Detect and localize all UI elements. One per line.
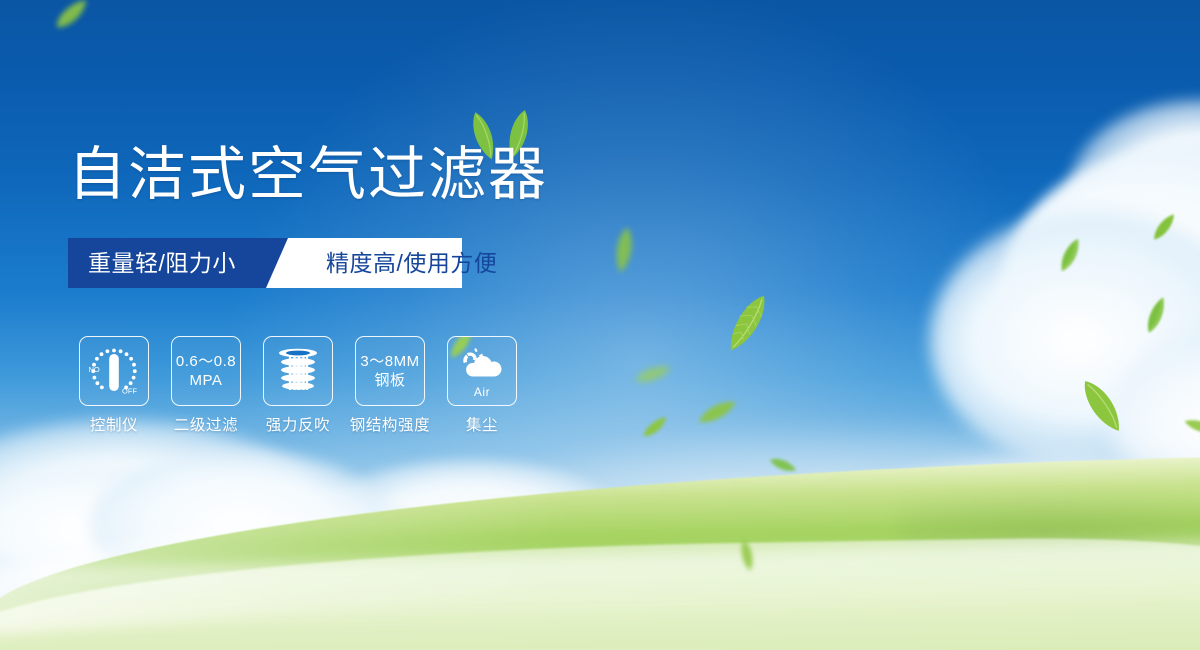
subtitle-left-text: 重量轻/阻力小 <box>88 238 236 288</box>
cloud-air-icon <box>456 346 508 390</box>
gauge-icon: NO OFF <box>86 343 142 399</box>
feature-icon-box: Air <box>447 336 517 406</box>
feature-list: NO OFF 控制仪 0.6～0.8 MPA 二级过滤 <box>68 336 528 435</box>
steel-thickness: 3～8MM <box>360 353 419 370</box>
feature-item-pressure[interactable]: 0.6～0.8 MPA 二级过滤 <box>160 336 252 435</box>
gauge-on-label: NO <box>89 365 100 374</box>
feature-item-dust[interactable]: Air 集尘 <box>436 336 528 435</box>
feature-item-steel[interactable]: 3～8MM 钢板 钢结构强度 <box>344 336 436 435</box>
pressure-range: 0.6～0.8 <box>176 353 236 370</box>
feature-icon-box <box>263 336 333 406</box>
air-label: Air <box>448 385 516 399</box>
feature-label: 控制仪 <box>90 417 138 435</box>
feature-icon-text: 3～8MM 钢板 <box>360 352 419 390</box>
gauge-off-label: OFF <box>122 387 137 396</box>
feature-icon-text: 0.6～0.8 MPA <box>176 352 236 390</box>
feature-label: 二级过滤 <box>174 417 238 435</box>
page-title: 自洁式空气过滤器 <box>68 144 548 206</box>
pressure-unit: MPA <box>190 372 223 389</box>
feature-item-control[interactable]: NO OFF 控制仪 <box>68 336 160 435</box>
feature-icon-box: 3～8MM 钢板 <box>355 336 425 406</box>
feature-label: 集尘 <box>466 417 498 435</box>
feature-icon-box: 0.6～0.8 MPA <box>171 336 241 406</box>
feature-item-blowback[interactable]: 强力反吹 <box>252 336 344 435</box>
feature-label: 强力反吹 <box>266 417 330 435</box>
promo-banner: 自洁式空气过滤器 重量轻/阻力小 精度高/使用方便 <box>0 0 1200 650</box>
feature-label: 钢结构强度 <box>350 417 431 435</box>
subtitle-right-text: 精度高/使用方便 <box>326 238 497 288</box>
feature-icon-box: NO OFF <box>79 336 149 406</box>
steel-material: 钢板 <box>374 372 405 389</box>
filter-stack-icon <box>273 345 323 397</box>
